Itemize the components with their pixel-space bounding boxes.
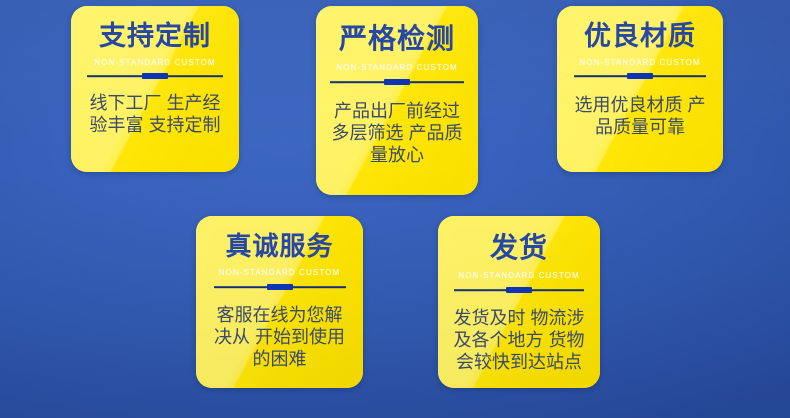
divider-rule [330, 79, 464, 85]
card-title: 优良材质 [584, 23, 696, 50]
feature-card-support-custom[interactable]: 支持定制 NON-STANDARD CUSTOM 线下工厂 生产经 验丰富 支持… [71, 6, 239, 172]
divider-rule [214, 284, 346, 290]
card-title: 支持定制 [99, 23, 211, 50]
divider-rule [574, 73, 706, 79]
card-body: 发货及时 物流涉 及各个地方 货物 会较快到达站点 [453, 308, 584, 374]
feature-card-quality-material[interactable]: 优良材质 NON-STANDARD CUSTOM 选用优良材质 产 品质量可靠 [557, 6, 723, 172]
card-body: 产品出厂前经过 多层筛选 产品质 量放心 [331, 101, 462, 167]
card-body-line: 客服在线为您解 [214, 305, 345, 327]
card-body-line: 的困难 [214, 349, 345, 371]
card-body: 选用优良材质 产 品质量可靠 [574, 95, 705, 139]
feature-card-sincere-service[interactable]: 真诚服务 NON-STANDARD CUSTOM 客服在线为您解 决从 开始到使… [196, 216, 363, 388]
card-subtitle: NON-STANDARD CUSTOM [458, 272, 580, 280]
card-body: 线下工厂 生产经 验丰富 支持定制 [89, 93, 220, 137]
promo-banner: 支持定制 NON-STANDARD CUSTOM 线下工厂 生产经 验丰富 支持… [0, 0, 790, 418]
card-body-line: 决从 开始到使用 [214, 327, 345, 349]
card-body-line: 品质量可靠 [574, 117, 705, 139]
card-subtitle: NON-STANDARD CUSTOM [579, 59, 701, 67]
card-body-line: 发货及时 物流涉 [453, 308, 584, 330]
card-body-line: 产品出厂前经过 [331, 101, 462, 123]
divider-nub [506, 287, 532, 293]
divider-nub [267, 284, 293, 290]
feature-card-strict-inspection[interactable]: 严格检测 NON-STANDARD CUSTOM 产品出厂前经过 多层筛选 产品… [316, 6, 478, 195]
card-subtitle: NON-STANDARD CUSTOM [336, 64, 458, 72]
card-title: 发货 [490, 234, 548, 262]
card-body-line: 验丰富 支持定制 [89, 115, 220, 137]
divider-nub [142, 73, 168, 79]
card-body-line: 线下工厂 生产经 [89, 93, 220, 115]
card-title: 严格检测 [339, 25, 455, 53]
card-body-line: 选用优良材质 产 [574, 95, 705, 117]
divider-nub [384, 79, 410, 85]
card-body: 客服在线为您解 决从 开始到使用 的困难 [214, 305, 345, 371]
card-body-line: 多层筛选 产品质 [331, 123, 462, 145]
card-title: 真诚服务 [225, 233, 333, 259]
card-subtitle: NON-STANDARD CUSTOM [219, 269, 341, 277]
divider-rule [87, 73, 223, 79]
divider-nub [627, 73, 653, 79]
card-body-line: 会较快到达站点 [453, 352, 584, 374]
card-body-line: 量放心 [331, 145, 462, 167]
feature-card-shipping[interactable]: 发货 NON-STANDARD CUSTOM 发货及时 物流涉 及各个地方 货物… [438, 216, 600, 388]
card-body-line: 及各个地方 货物 [453, 330, 584, 352]
card-subtitle: NON-STANDARD CUSTOM [94, 59, 216, 67]
divider-rule [454, 287, 584, 293]
